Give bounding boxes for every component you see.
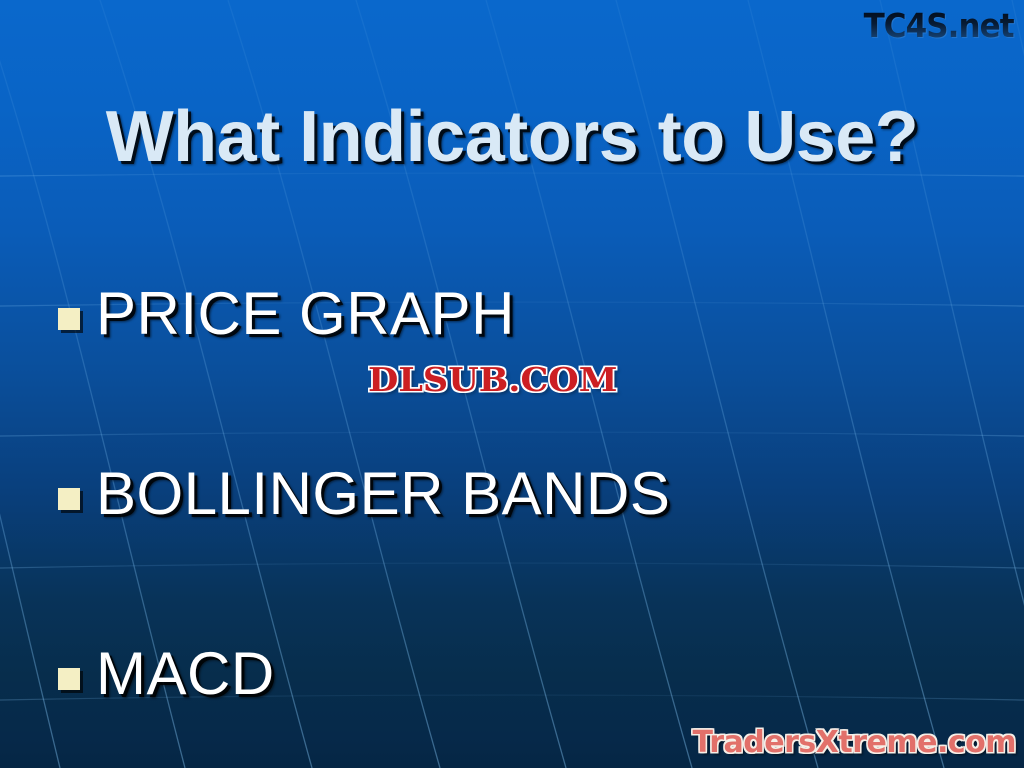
presentation-slide: TC4S.net What Indicators to Use? PRICE G… xyxy=(0,0,1024,768)
bullet-label: MACD xyxy=(96,644,275,704)
bullet-label: BOLLINGER BANDS xyxy=(96,464,670,524)
square-bullet-icon xyxy=(58,668,80,690)
bullet-list: PRICE GRAPH BOLLINGER BANDS MACD xyxy=(58,224,988,764)
square-bullet-icon xyxy=(58,308,80,330)
slide-title: What Indicators to Use? xyxy=(0,100,1024,176)
square-bullet-icon xyxy=(58,488,80,510)
bullet-item-bollinger-bands: BOLLINGER BANDS xyxy=(58,404,988,584)
bullet-label: PRICE GRAPH xyxy=(96,284,515,344)
tc4s-logo: TC4S.net xyxy=(864,6,1014,45)
dlsub-watermark: DLSUB.COM xyxy=(368,360,617,399)
tradersxtreme-logo: TradersXtreme.com xyxy=(693,725,1016,760)
